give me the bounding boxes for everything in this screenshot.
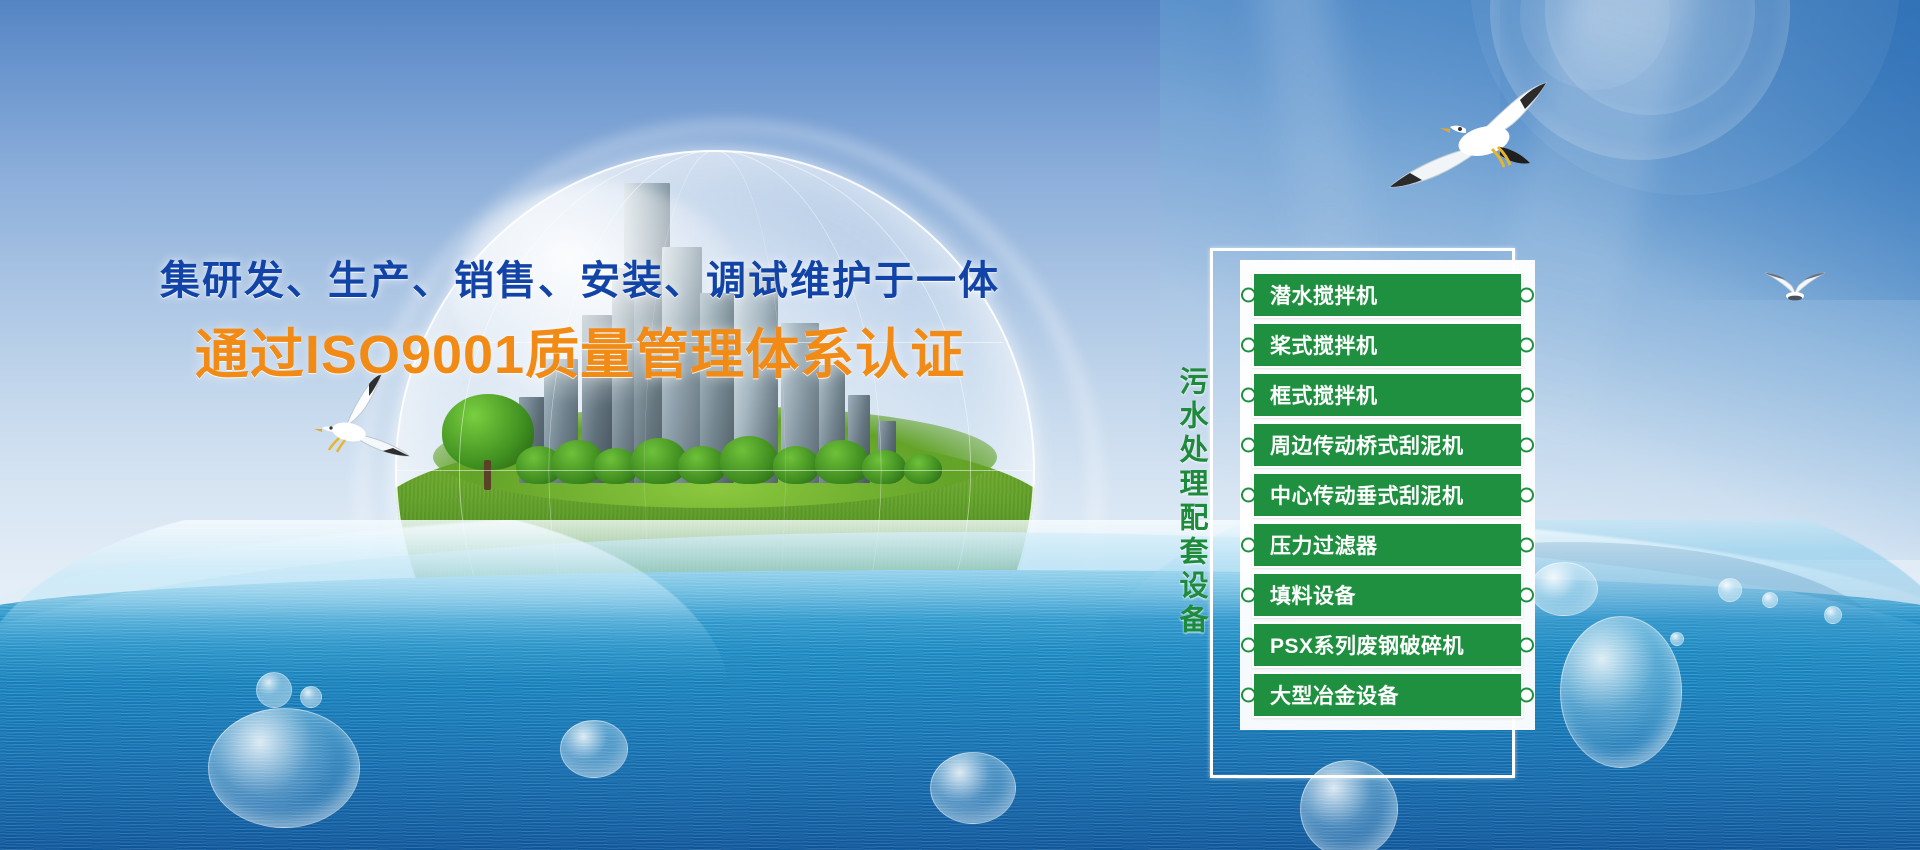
product-item[interactable]: 中心传动垂式刮泥机 bbox=[1252, 472, 1523, 518]
product-item[interactable]: 桨式搅拌机 bbox=[1252, 322, 1523, 368]
connector-knob-right-icon bbox=[1519, 538, 1534, 553]
product-item-label: 大型冶金设备 bbox=[1254, 680, 1399, 710]
connector-knob-left-icon bbox=[1241, 638, 1256, 653]
connector-knob-right-icon bbox=[1519, 288, 1534, 303]
headline-block: 集研发、生产、销售、安装、调试维护于一体 通过ISO9001质量管理体系认证 bbox=[0, 248, 1160, 389]
product-item[interactable]: 周边传动桥式刮泥机 bbox=[1252, 422, 1523, 468]
connector-knob-left-icon bbox=[1241, 538, 1256, 553]
product-item-label: 中心传动垂式刮泥机 bbox=[1254, 480, 1464, 510]
connector-knob-right-icon bbox=[1519, 388, 1534, 403]
bubble bbox=[560, 720, 628, 778]
product-item-label: 潜水搅拌机 bbox=[1254, 280, 1378, 310]
bubble bbox=[256, 672, 292, 708]
product-item[interactable]: 潜水搅拌机 bbox=[1252, 272, 1523, 318]
seagull-small-far-right-icon bbox=[1755, 265, 1835, 313]
banner-stage: 集研发、生产、销售、安装、调试维护于一体 通过ISO9001质量管理体系认证 bbox=[0, 0, 1920, 850]
connector-knob-right-icon bbox=[1519, 338, 1534, 353]
connector-knob-left-icon bbox=[1241, 438, 1256, 453]
bubble bbox=[1762, 592, 1778, 608]
bubble bbox=[1718, 578, 1742, 602]
connector-knob-left-icon bbox=[1241, 388, 1256, 403]
connector-knob-right-icon bbox=[1519, 488, 1534, 503]
headline-primary: 集研发、生产、销售、安装、调试维护于一体 bbox=[0, 248, 1160, 306]
bubble bbox=[300, 686, 322, 708]
connector-knob-right-icon bbox=[1519, 438, 1534, 453]
product-item[interactable]: 大型冶金设备 bbox=[1252, 672, 1523, 718]
product-item-label: 周边传动桥式刮泥机 bbox=[1254, 430, 1464, 460]
connector-knob-right-icon bbox=[1519, 638, 1534, 653]
connector-knob-left-icon bbox=[1241, 338, 1256, 353]
bubble bbox=[1824, 606, 1842, 624]
product-item-label: 框式搅拌机 bbox=[1254, 380, 1378, 410]
seagull-large-right-icon bbox=[1380, 55, 1570, 195]
connector-knob-left-icon bbox=[1241, 288, 1256, 303]
water-scene bbox=[0, 520, 1920, 850]
connector-knob-right-icon bbox=[1519, 588, 1534, 603]
product-item[interactable]: 框式搅拌机 bbox=[1252, 372, 1523, 418]
bubble bbox=[930, 752, 1016, 824]
product-item-label: 压力过滤器 bbox=[1254, 530, 1378, 560]
bubble bbox=[1670, 632, 1684, 646]
product-category-panel: 污水处理配套设备 潜水搅拌机 桨式搅拌机 框式搅拌机 周边传动桥式刮泥机 bbox=[1210, 248, 1515, 778]
panel-vertical-label: 污水处理配套设备 bbox=[1170, 366, 1212, 638]
bubble bbox=[208, 708, 360, 828]
connector-knob-left-icon bbox=[1241, 488, 1256, 503]
product-item[interactable]: 压力过滤器 bbox=[1252, 522, 1523, 568]
connector-knob-left-icon bbox=[1241, 688, 1256, 703]
connector-knob-left-icon bbox=[1241, 588, 1256, 603]
product-item-label: 桨式搅拌机 bbox=[1254, 330, 1378, 360]
product-item[interactable]: PSX系列废钢破碎机 bbox=[1252, 622, 1523, 668]
headline-secondary: 通过ISO9001质量管理体系认证 bbox=[0, 310, 1160, 389]
product-item-label: 填料设备 bbox=[1254, 580, 1356, 610]
connector-knob-right-icon bbox=[1519, 688, 1534, 703]
product-item[interactable]: 填料设备 bbox=[1252, 572, 1523, 618]
product-list: 潜水搅拌机 桨式搅拌机 框式搅拌机 周边传动桥式刮泥机 中心传动垂式刮泥机 bbox=[1240, 260, 1535, 730]
seagull-small-left-icon bbox=[295, 362, 415, 457]
bubble bbox=[1560, 616, 1682, 768]
bubble bbox=[1530, 562, 1598, 616]
product-item-label: PSX系列废钢破碎机 bbox=[1254, 630, 1464, 660]
